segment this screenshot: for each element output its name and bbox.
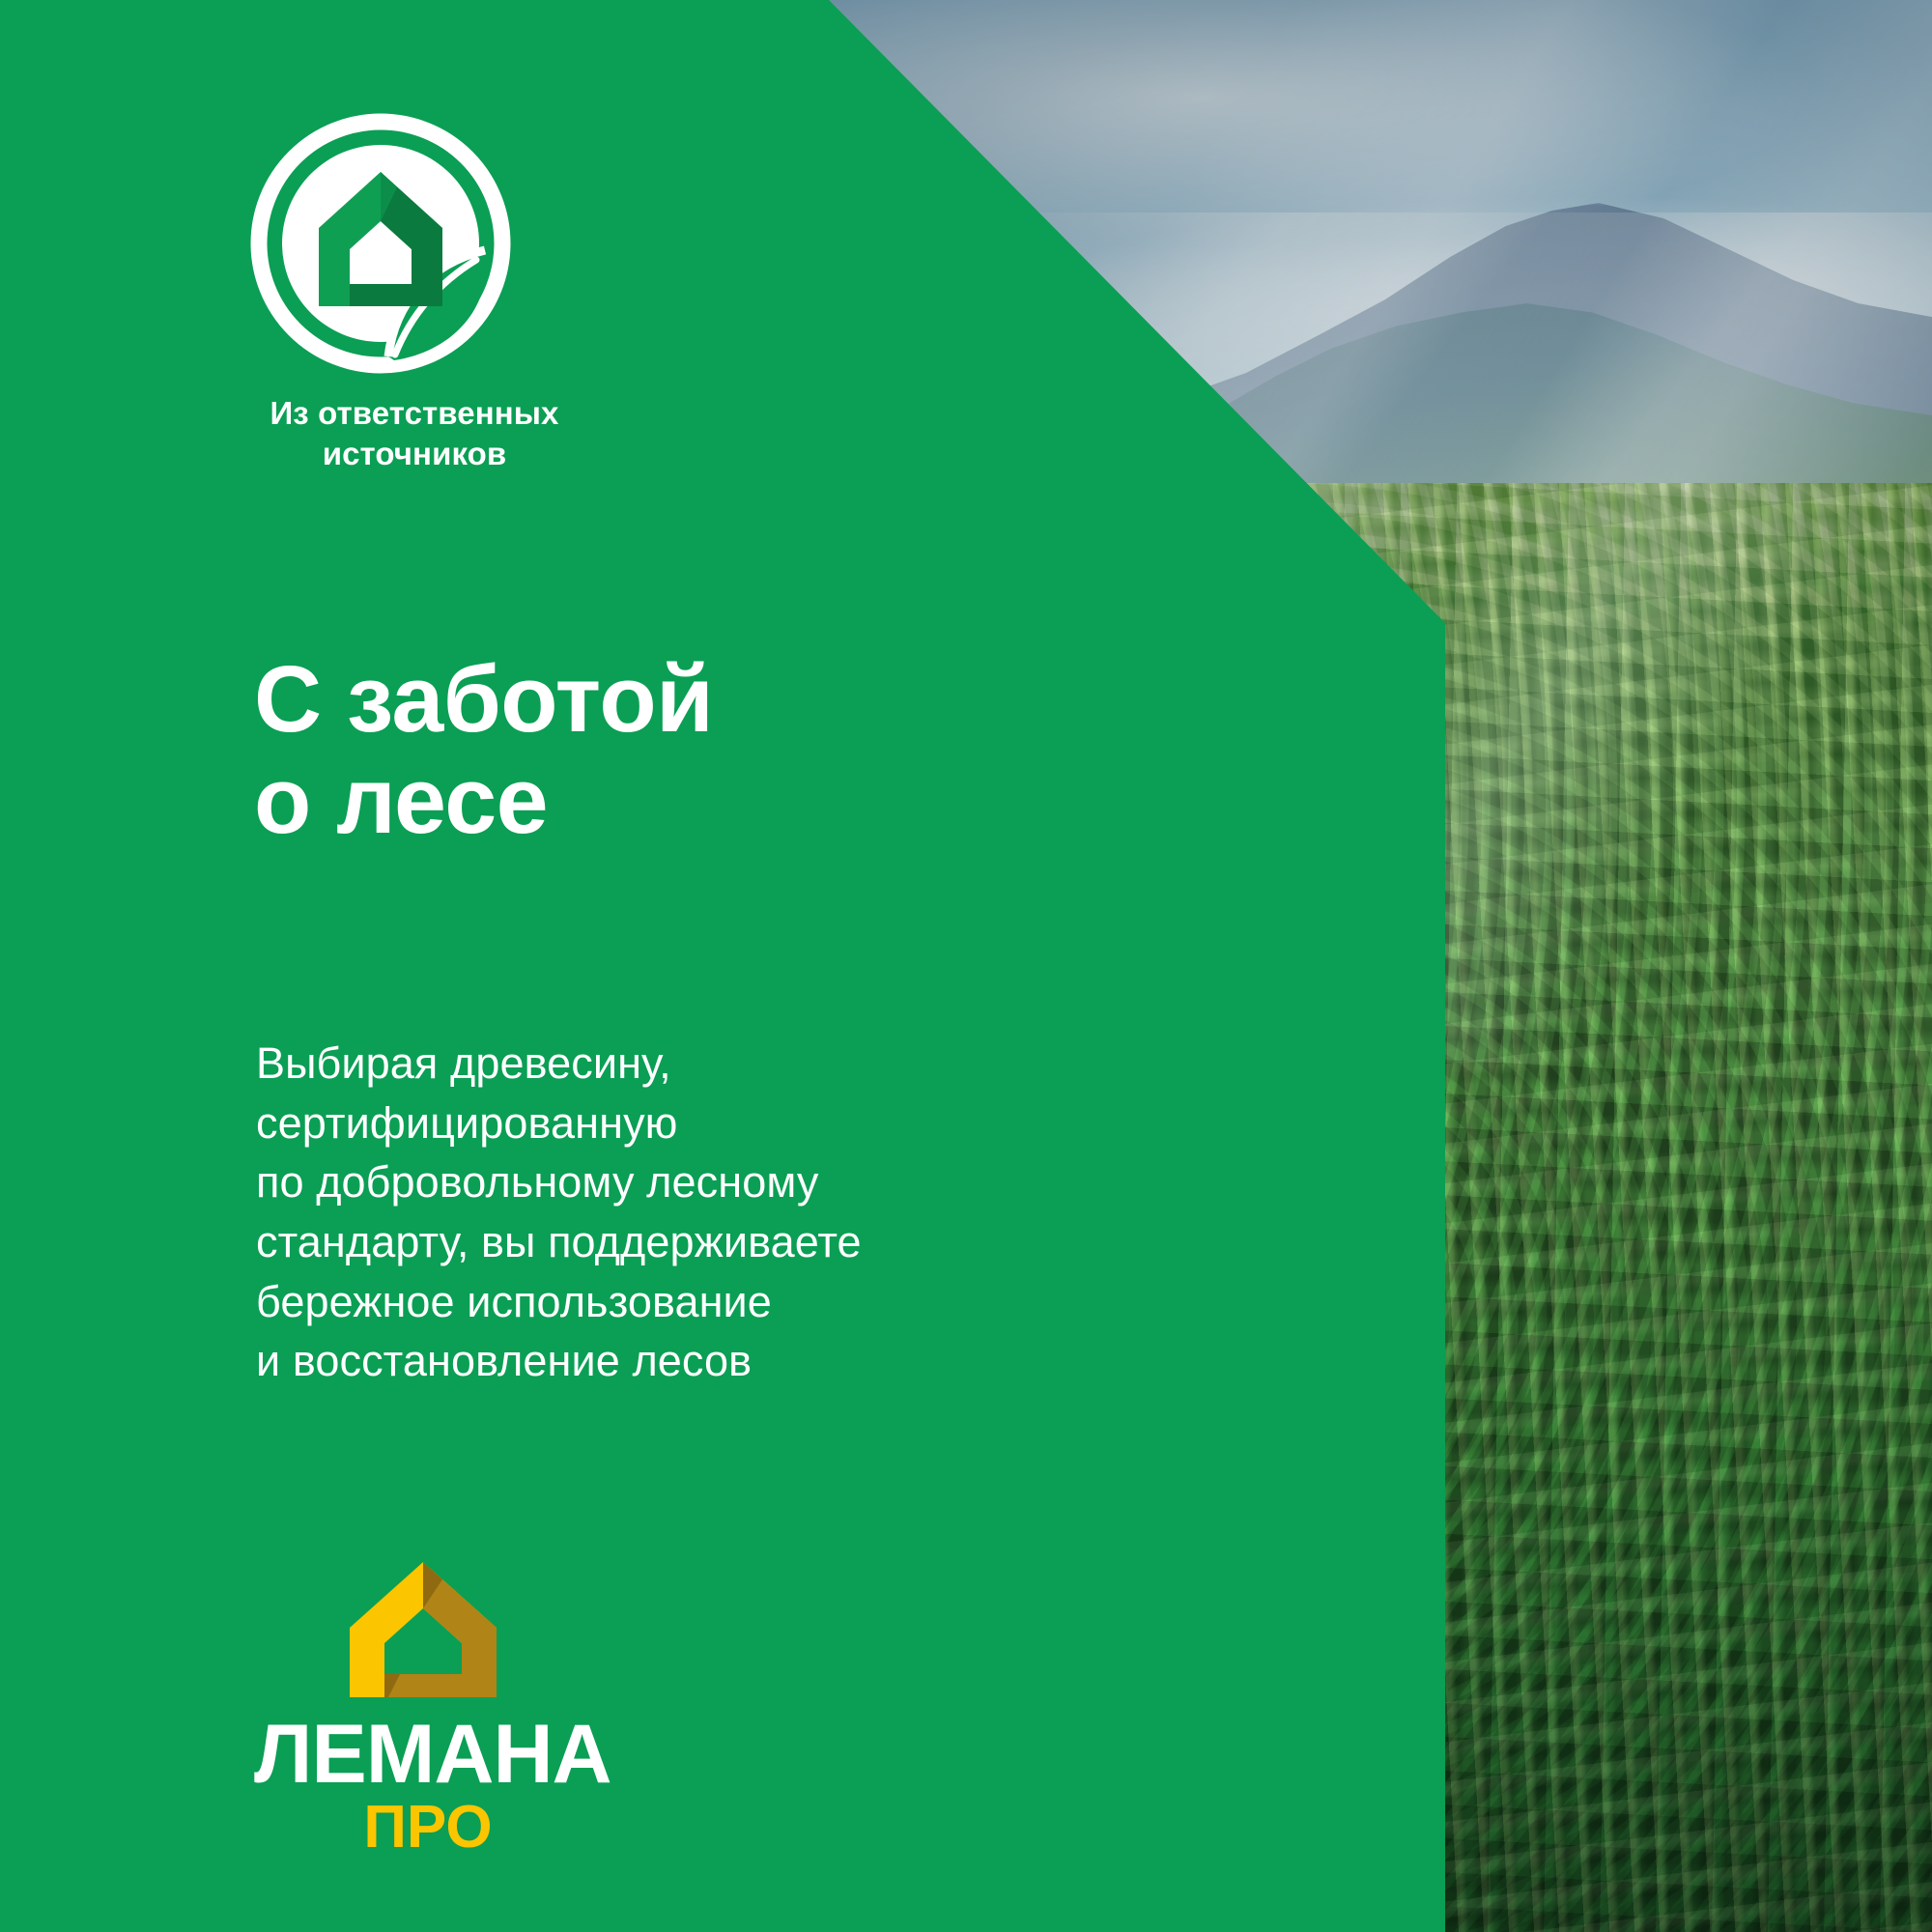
lemana-house-icon — [346, 1558, 500, 1701]
responsible-sources-badge: Из ответственных источников — [250, 113, 579, 474]
poster-canvas: Из ответственных источников С заботой о … — [0, 0, 1932, 1932]
poster-content: Из ответственных источников С заботой о … — [0, 0, 1932, 1932]
lemana-pro-logo: ЛЕМАНА ПРО — [254, 1558, 602, 1858]
page-title: С заботой о лесе — [254, 649, 713, 852]
lemana-wordmark: ЛЕМАНА — [254, 1713, 602, 1796]
badge-caption: Из ответственных источников — [250, 393, 579, 474]
pro-submark: ПРО — [254, 1798, 602, 1858]
body-paragraph: Выбирая древесину, сертифицированную по … — [256, 1034, 862, 1391]
responsible-sources-seal-icon — [250, 113, 511, 374]
